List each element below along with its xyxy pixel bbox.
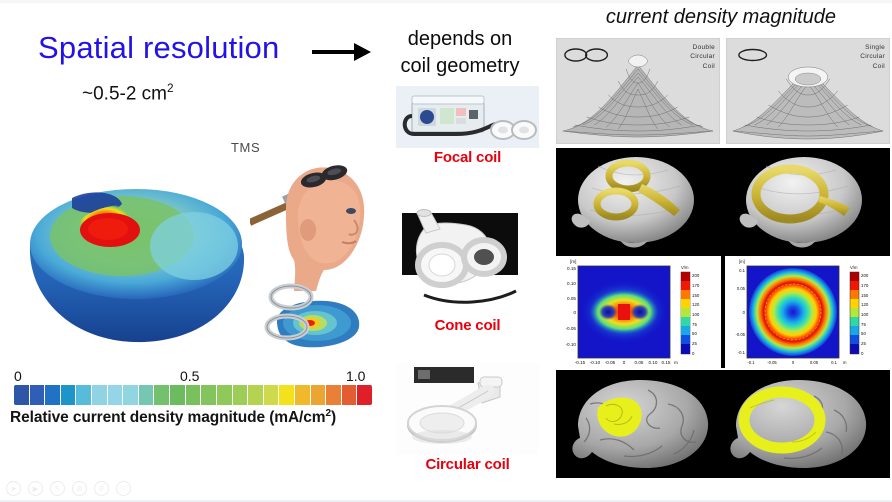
coil-card-focal: Focal coil bbox=[396, 86, 539, 166]
colorbar-segment-2 bbox=[45, 385, 61, 405]
svg-text:-0.10: -0.10 bbox=[566, 342, 577, 347]
colorbar-segment-1 bbox=[30, 385, 46, 405]
colorbar-segment-8 bbox=[139, 385, 155, 405]
svg-text:V/m: V/m bbox=[850, 265, 858, 270]
area-note-exponent: 2 bbox=[167, 82, 174, 95]
surface-plot-row: Double Circular Coil bbox=[556, 38, 890, 144]
surface-label-line-2: Circular bbox=[860, 52, 885, 61]
colorbar-segment-22 bbox=[357, 385, 372, 405]
surface-label-line-1: Double bbox=[690, 43, 715, 52]
figure8-coil-field-patch bbox=[255, 275, 365, 355]
svg-text:25: 25 bbox=[861, 341, 866, 346]
svg-text:170: 170 bbox=[692, 283, 700, 288]
colorbar-segment-13 bbox=[217, 385, 233, 405]
field-map-figure8: 0.15 0.10 0.05 0 -0.05 -0.10 [m] -0.15 -… bbox=[556, 256, 721, 368]
surface-label-double-circular: Double Circular Coil bbox=[690, 43, 715, 71]
colorbar-strip bbox=[14, 385, 372, 405]
tms-stimulator-photo bbox=[396, 86, 539, 148]
svg-text:0.10: 0.10 bbox=[649, 360, 658, 365]
svg-text:-0.05: -0.05 bbox=[735, 332, 745, 337]
tms-head-illustration bbox=[250, 158, 375, 293]
field-map-circular: 0.1 0.05 0 -0.05 -0.1 [m] -0.1 -0.05 0 0… bbox=[725, 256, 890, 368]
svg-text:0.15: 0.15 bbox=[567, 266, 576, 271]
double-cone-coil-photo bbox=[396, 191, 539, 316]
svg-text:200: 200 bbox=[861, 273, 869, 278]
svg-text:0: 0 bbox=[623, 360, 626, 365]
colorbar-segment-9 bbox=[154, 385, 170, 405]
svg-text:25: 25 bbox=[692, 341, 697, 346]
area-note-text: ~0.5-2 cm bbox=[82, 83, 167, 104]
svg-text:-0.05: -0.05 bbox=[605, 360, 616, 365]
subtitle-line-1: depends on bbox=[380, 26, 540, 53]
surface-label-line-2: Circular bbox=[690, 52, 715, 61]
svg-text:0.1: 0.1 bbox=[739, 268, 745, 273]
svg-text:150: 150 bbox=[861, 293, 869, 298]
svg-text:120: 120 bbox=[692, 302, 700, 307]
surface-label-line-1: Single bbox=[860, 43, 885, 52]
play-icon[interactable]: ▶ bbox=[28, 481, 43, 496]
svg-text:50: 50 bbox=[692, 331, 697, 336]
surface-label-line-3: Coil bbox=[690, 62, 715, 71]
colorbar-tick-max: 1.0 bbox=[346, 368, 365, 384]
head-current-density-map bbox=[22, 168, 252, 353]
coil-label-focal: Focal coil bbox=[396, 149, 539, 166]
colorbar-segment-10 bbox=[170, 385, 186, 405]
colorbar-segment-6 bbox=[108, 385, 124, 405]
subtitle-text: depends on coil geometry bbox=[380, 26, 540, 80]
colorbar-segment-18 bbox=[295, 385, 311, 405]
svg-text:0.05: 0.05 bbox=[737, 286, 746, 291]
svg-text:0.1: 0.1 bbox=[831, 360, 837, 365]
coil-label-circular: Circular coil bbox=[396, 456, 539, 473]
svg-text:0.10: 0.10 bbox=[567, 281, 576, 286]
colorbar-segment-5 bbox=[92, 385, 108, 405]
settings-icon[interactable]: ⚙ bbox=[72, 481, 87, 496]
svg-text:-0.15: -0.15 bbox=[575, 360, 586, 365]
colorbar-segment-14 bbox=[233, 385, 249, 405]
colorbar-segment-19 bbox=[311, 385, 327, 405]
right-panel-title: current density magnitude bbox=[550, 6, 892, 29]
svg-text:75: 75 bbox=[861, 322, 866, 327]
svg-text:-0.05: -0.05 bbox=[767, 360, 777, 365]
circular-coil-photo bbox=[396, 363, 539, 455]
coil-label-cone: Cone coil bbox=[396, 317, 539, 334]
svg-text:0: 0 bbox=[573, 310, 576, 315]
brain-rendering-row bbox=[556, 370, 890, 478]
svg-text:0.05: 0.05 bbox=[567, 296, 576, 301]
field-map-row: 0.15 0.10 0.05 0 -0.05 -0.10 [m] -0.15 -… bbox=[556, 256, 890, 368]
right-arrow-icon bbox=[310, 40, 372, 64]
head-rendering-row bbox=[556, 148, 890, 256]
colorbar-segment-7 bbox=[123, 385, 139, 405]
svg-text:-0.10: -0.10 bbox=[590, 360, 601, 365]
svg-text:-0.1: -0.1 bbox=[738, 350, 746, 355]
colorbar-tick-labels: 0 0.5 1.0 bbox=[10, 368, 382, 385]
colorbar-segment-15 bbox=[248, 385, 264, 405]
svg-text:-0.05: -0.05 bbox=[566, 326, 577, 331]
svg-text:m: m bbox=[674, 360, 678, 365]
colorbar-segment-0 bbox=[14, 385, 30, 405]
svg-text:0.15: 0.15 bbox=[662, 360, 671, 365]
colorbar-segment-17 bbox=[279, 385, 295, 405]
svg-text:150: 150 bbox=[692, 293, 700, 298]
svg-text:170: 170 bbox=[861, 283, 869, 288]
svg-text:120: 120 bbox=[861, 302, 869, 307]
surface-plot-single-circular: Single Circular Coil bbox=[726, 38, 890, 144]
svg-text:100: 100 bbox=[692, 312, 700, 317]
svg-text:200: 200 bbox=[692, 273, 700, 278]
slide-canvas: Spatial resolution depends on coil geome… bbox=[0, 0, 892, 502]
colorbar-segment-3 bbox=[61, 385, 77, 405]
colorbar-caption-tail: ) bbox=[331, 409, 336, 426]
coil-card-circular: Circular coil bbox=[396, 363, 539, 473]
surface-label-single-circular: Single Circular Coil bbox=[860, 43, 885, 71]
search-icon[interactable]: ⚲ bbox=[94, 481, 109, 496]
spatial-area-note: ~0.5-2 cm2 bbox=[82, 82, 174, 105]
colorbar-segment-12 bbox=[201, 385, 217, 405]
colorbar-segment-4 bbox=[76, 385, 92, 405]
svg-text:-0.1: -0.1 bbox=[747, 360, 755, 365]
surface-plot-double-circular: Double Circular Coil bbox=[556, 38, 720, 144]
right-figure-panel: current density magnitude bbox=[550, 0, 892, 502]
svg-text:[m]: [m] bbox=[739, 259, 745, 264]
colorbar-tick-0: 0 bbox=[14, 368, 22, 384]
svg-text:75: 75 bbox=[692, 322, 697, 327]
colorbar-segment-11 bbox=[186, 385, 202, 405]
svg-text:0.05: 0.05 bbox=[635, 360, 644, 365]
colorbar-segment-20 bbox=[326, 385, 342, 405]
svg-text:100: 100 bbox=[861, 312, 869, 317]
surface-label-line-3: Coil bbox=[860, 62, 885, 71]
relative-current-density-colorbar: 0 0.5 1.0 Relative current density magni… bbox=[10, 368, 382, 427]
svg-text:V/m: V/m bbox=[681, 265, 689, 270]
svg-text:m: m bbox=[843, 360, 847, 365]
svg-text:[m]: [m] bbox=[570, 259, 576, 264]
watermark-icon-row: ➤ ▶ ✎ ⚙ ⚲ ☺ bbox=[6, 481, 131, 496]
colorbar-caption-text: Relative current density magnitude (mA/c… bbox=[10, 409, 325, 426]
subtitle-line-2: coil geometry bbox=[380, 53, 540, 80]
colorbar-segment-21 bbox=[342, 385, 358, 405]
page-title: Spatial resolution bbox=[38, 30, 279, 66]
smile-icon[interactable]: ☺ bbox=[116, 481, 131, 496]
colorbar-caption: Relative current density magnitude (mA/c… bbox=[10, 408, 382, 427]
tms-label: TMS bbox=[231, 140, 260, 155]
share-icon[interactable]: ➤ bbox=[6, 481, 21, 496]
coil-card-cone: Cone coil bbox=[396, 191, 539, 334]
edit-icon[interactable]: ✎ bbox=[50, 481, 65, 496]
svg-text:50: 50 bbox=[861, 331, 866, 336]
colorbar-segment-16 bbox=[264, 385, 280, 405]
svg-text:0.05: 0.05 bbox=[810, 360, 819, 365]
colorbar-tick-mid: 0.5 bbox=[180, 368, 199, 384]
